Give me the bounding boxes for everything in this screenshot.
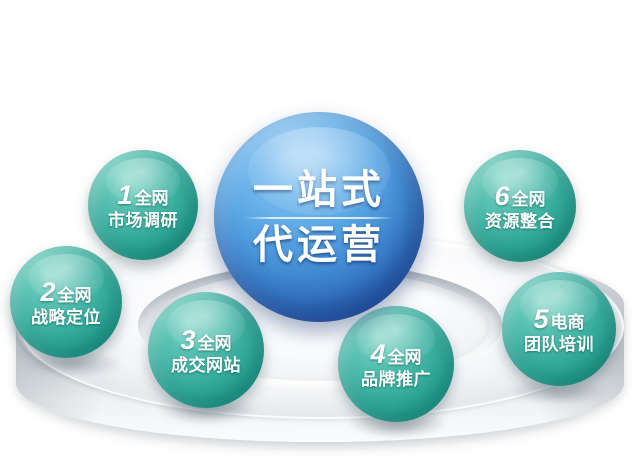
hub-sphere[interactable]: 一站式 代运营 — [214, 112, 424, 322]
node-2-headline: 2 全网 — [40, 279, 91, 306]
node-5-tag: 电商 — [551, 314, 585, 331]
node-2-label: 战略定位 — [31, 309, 101, 326]
infographic-stage: 1 全网 市场调研 2 全网 战略定位 3 全网 成交网站 4 全网 品牌推广 … — [0, 0, 640, 464]
node-2[interactable]: 2 全网 战略定位 — [10, 246, 122, 358]
node-6-label: 资源整合 — [485, 213, 555, 230]
node-1-label: 市场调研 — [108, 212, 178, 229]
node-3[interactable]: 3 全网 成交网站 — [148, 292, 264, 408]
node-2-tag: 全网 — [58, 287, 92, 304]
node-1-tag: 全网 — [135, 190, 169, 207]
node-5-headline: 5 电商 — [533, 306, 584, 333]
node-6-tag: 全网 — [512, 191, 546, 208]
node-1[interactable]: 1 全网 市场调研 — [88, 150, 198, 260]
node-4-number: 4 — [370, 341, 384, 368]
node-4-headline: 4 全网 — [370, 341, 421, 368]
node-6[interactable]: 6 全网 资源整合 — [464, 150, 576, 262]
node-2-number: 2 — [40, 279, 54, 306]
node-5-label: 团队培训 — [524, 336, 594, 353]
node-4[interactable]: 4 全网 品牌推广 — [338, 306, 454, 422]
node-3-tag: 全网 — [198, 335, 232, 352]
hub-divider — [244, 217, 394, 219]
node-1-headline: 1 全网 — [117, 182, 168, 209]
hub-line-1: 一站式 — [253, 170, 385, 210]
node-1-number: 1 — [117, 182, 131, 209]
node-3-number: 3 — [180, 327, 194, 354]
hub-line-2: 代运营 — [253, 225, 385, 265]
node-3-headline: 3 全网 — [180, 327, 231, 354]
node-6-headline: 6 全网 — [494, 183, 545, 210]
node-4-label: 品牌推广 — [361, 371, 431, 388]
node-6-number: 6 — [494, 183, 508, 210]
node-3-label: 成交网站 — [171, 357, 241, 374]
node-5[interactable]: 5 电商 团队培训 — [502, 272, 616, 386]
node-4-tag: 全网 — [388, 349, 422, 366]
node-5-number: 5 — [533, 306, 547, 333]
